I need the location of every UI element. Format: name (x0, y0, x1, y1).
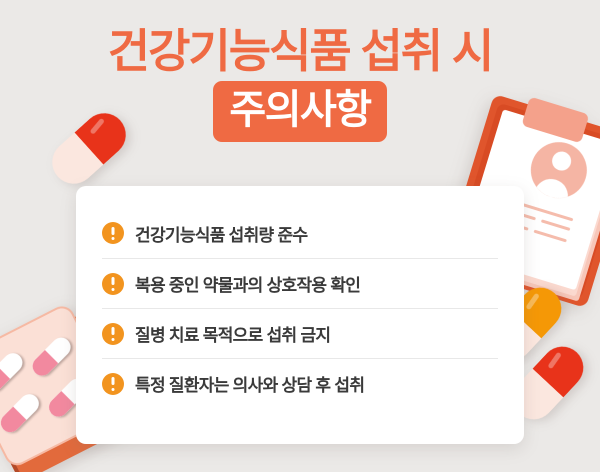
warning-exclamation-icon (102, 373, 124, 395)
list-item: 특정 질환자는 의사와 상담 후 섭취 (102, 358, 498, 408)
list-item: 건강기능식품 섭취량 준수 (102, 208, 498, 258)
title-badge: 주의사항 (213, 81, 386, 142)
list-item-label: 질병 치료 목적으로 섭취 금지 (135, 321, 330, 346)
list-item-label: 특정 질환자는 의사와 상담 후 섭취 (135, 371, 364, 396)
avatar-head (550, 149, 574, 173)
infographic-poster: 건강기능식품 섭취 시 주의사항 건강기능식품 섭취량 준수 복용 중인 약물과… (0, 0, 600, 472)
poster-title: 건강기능식품 섭취 시 주의사항 (0, 26, 600, 142)
warning-exclamation-icon (102, 273, 124, 295)
capsule-gloss (525, 293, 539, 311)
capsule-gloss (547, 352, 561, 370)
blister-pill (0, 390, 43, 436)
blister-pill (0, 349, 26, 395)
warning-exclamation-icon (102, 323, 124, 345)
title-badge-wrap: 주의사항 (0, 81, 600, 142)
list-item: 질병 치료 목적으로 섭취 금지 (102, 308, 498, 358)
precautions-list: 건강기능식품 섭취량 준수 복용 중인 약물과의 상호작용 확인 질병 치료 목… (76, 208, 524, 408)
list-item-label: 복용 중인 약물과의 상호작용 확인 (135, 271, 360, 296)
precautions-card: 건강기능식품 섭취량 준수 복용 중인 약물과의 상호작용 확인 질병 치료 목… (76, 186, 524, 444)
blister-pill (29, 334, 75, 380)
warning-exclamation-icon (102, 222, 124, 244)
list-item-label: 건강기능식품 섭취량 준수 (135, 221, 307, 246)
title-line-1: 건강기능식품 섭취 시 (0, 26, 600, 78)
list-item: 복용 중인 약물과의 상호작용 확인 (102, 258, 498, 308)
